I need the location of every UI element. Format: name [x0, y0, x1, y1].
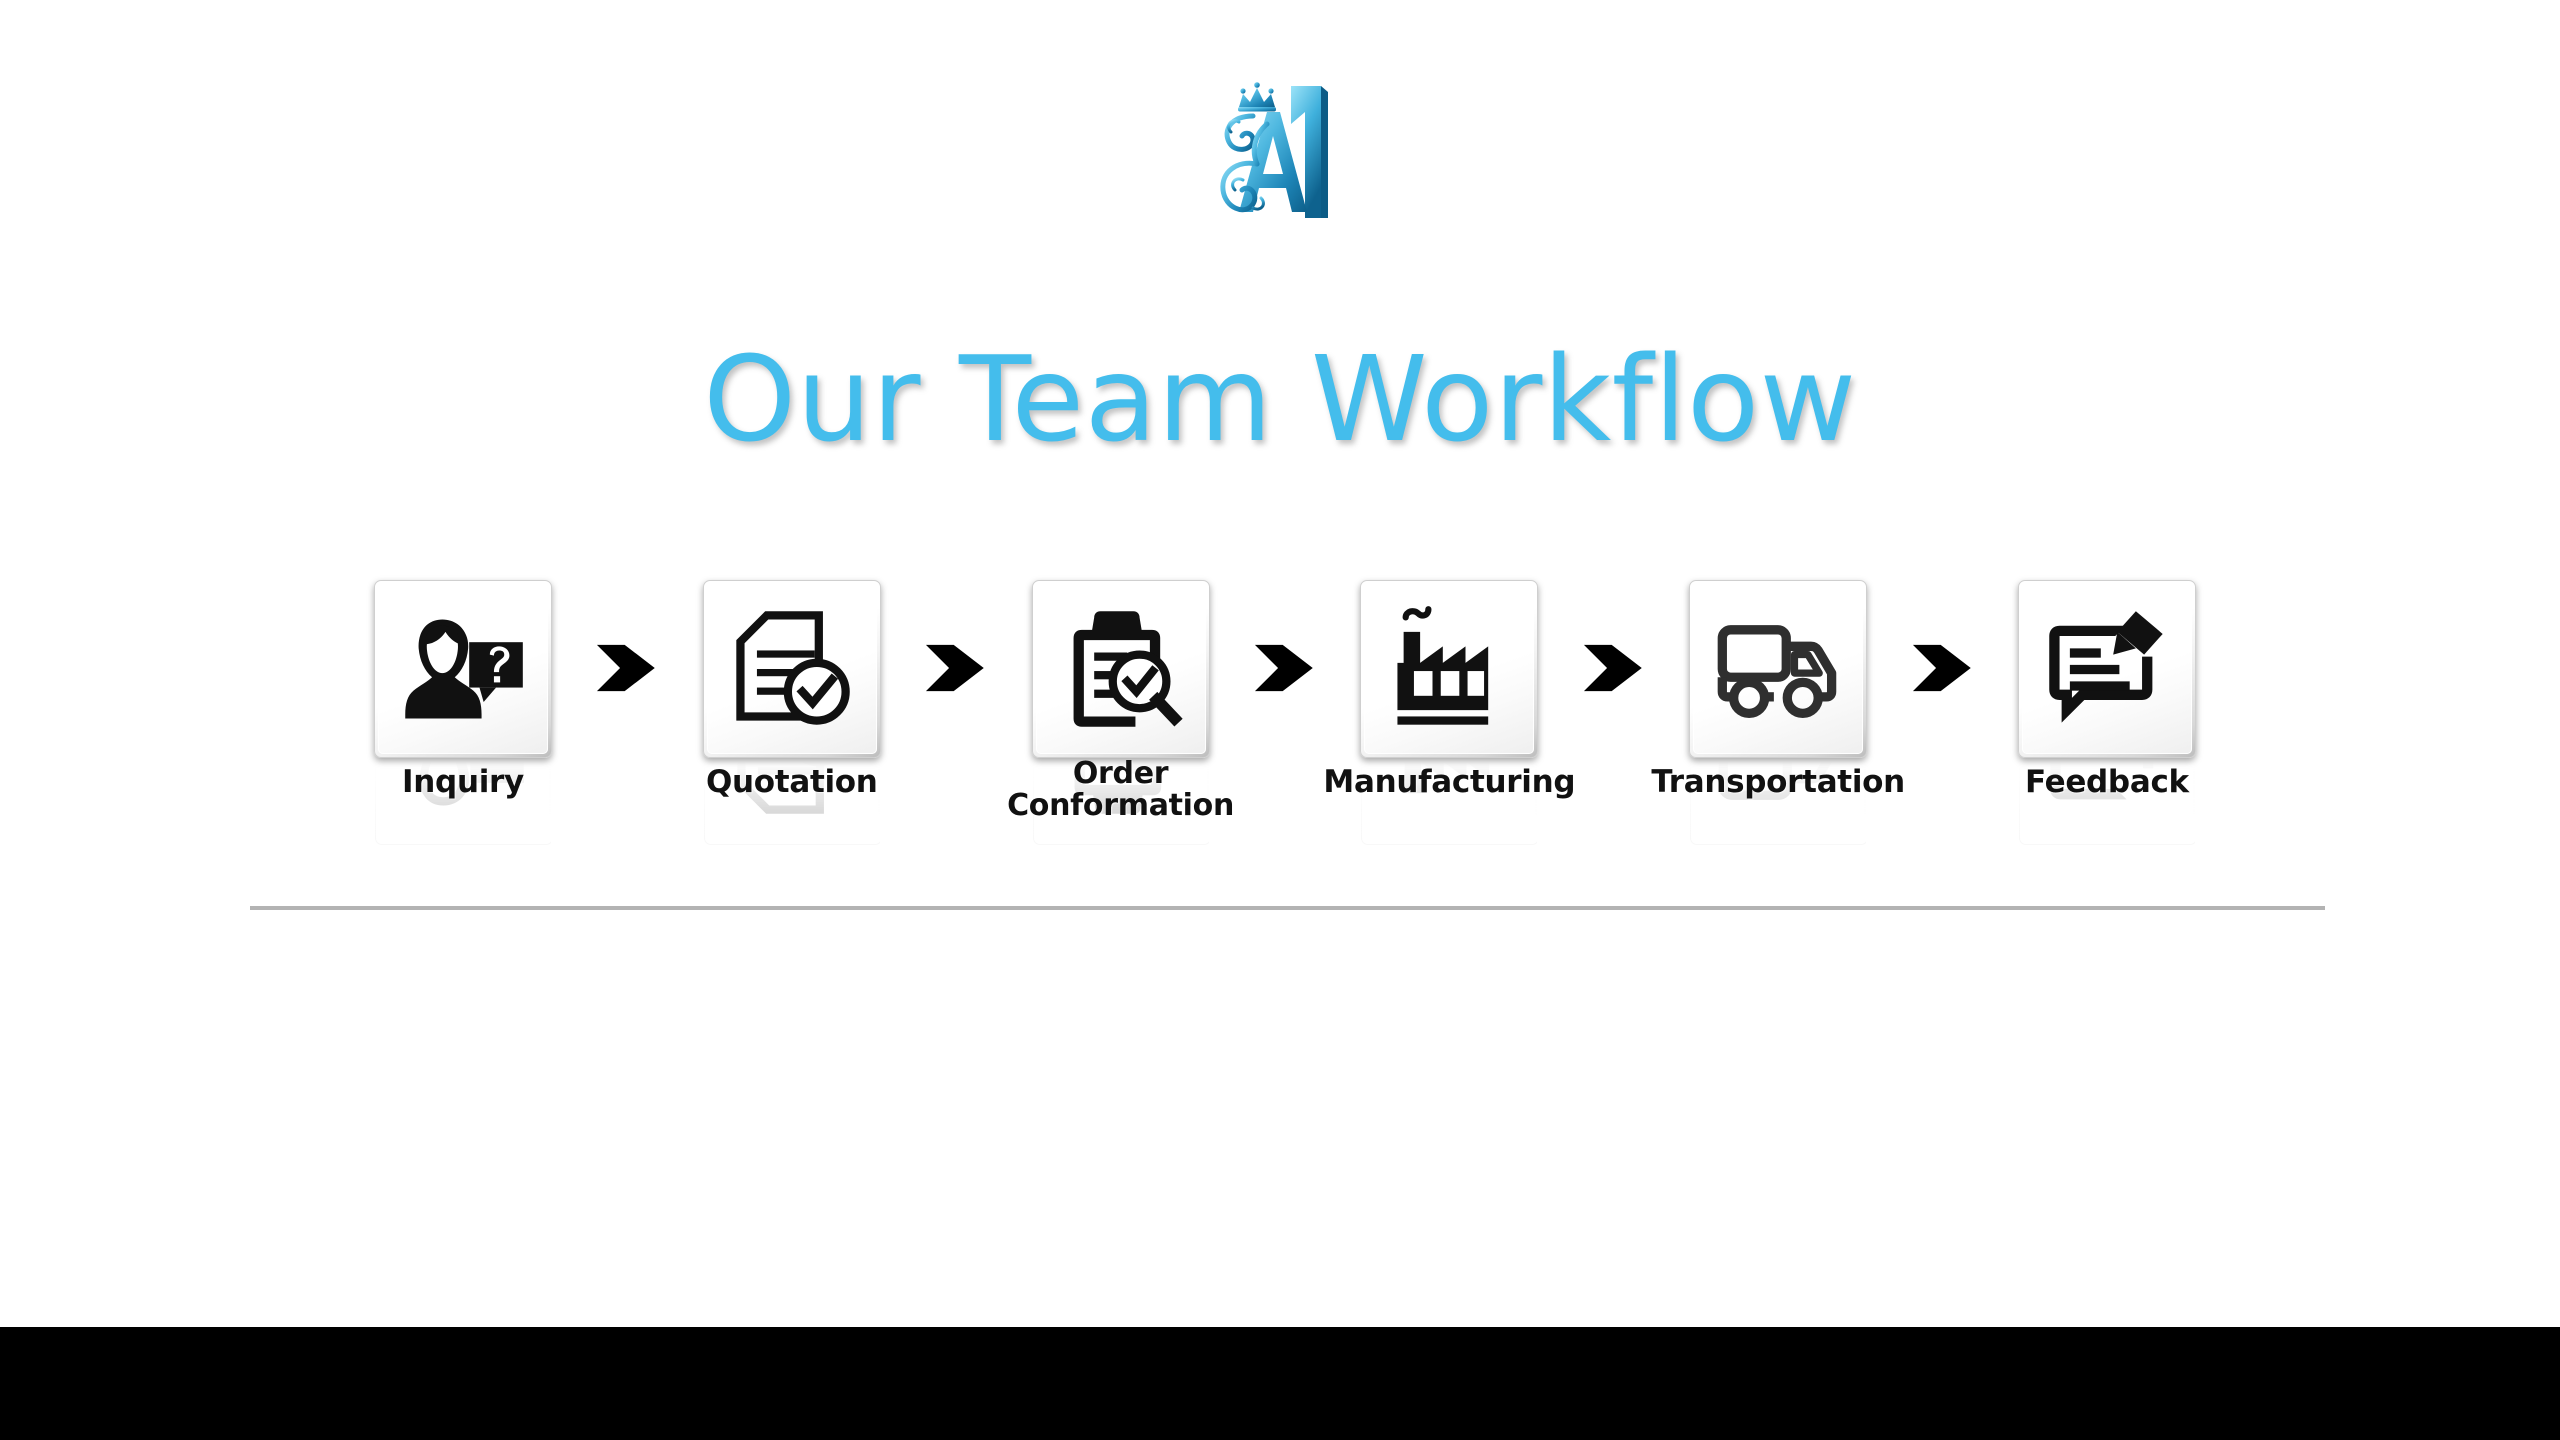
page-title: Our Team Workflow	[0, 340, 2560, 458]
workflow-step-label-quotation: Quotation	[629, 766, 955, 799]
workflow-arrow-2	[913, 580, 999, 756]
chevron-arrow-right-icon	[590, 631, 664, 705]
workflow-step-transportation[interactable]: Transportation	[1685, 580, 1871, 845]
workflow-step-label-feedback: Feedback	[1944, 766, 2270, 799]
slide-canvas: Our Team Workflow	[0, 0, 2560, 1327]
document-check-quotation-icon	[726, 603, 858, 735]
workflow-step-label-transportation: Transportation	[1615, 766, 1941, 799]
workflow-step-quotation[interactable]: Quotation	[699, 580, 885, 845]
workflow-step-manufacturing[interactable]: Manufacturing	[1356, 580, 1542, 845]
chevron-arrow-right-icon	[1577, 631, 1651, 705]
a1-crown-monogram-logo	[1195, 72, 1365, 237]
speech-bubble-pencil-feedback-icon	[2041, 603, 2173, 735]
workflow-step-label-inquiry: Inquiry	[300, 766, 626, 799]
workflow-step-feedback[interactable]: Feedback	[2014, 580, 2200, 845]
chevron-arrow-right-icon	[1906, 631, 1980, 705]
workflow-step-label-order-conformation: Order Conformation	[958, 758, 1284, 823]
workflow-steps-row: Inquiry	[370, 580, 2200, 840]
person-question-inquiry-icon	[397, 603, 529, 735]
factory-manufacturing-icon	[1383, 603, 1515, 735]
chevron-arrow-right-icon	[1248, 631, 1322, 705]
order-conformation-tile[interactable]	[1032, 580, 1210, 758]
chevron-arrow-right-icon	[919, 631, 993, 705]
content-divider	[250, 906, 2325, 910]
workflow-arrow-1	[584, 580, 670, 756]
feedback-tile[interactable]	[2018, 580, 2196, 758]
workflow-arrow-5	[1900, 580, 1986, 756]
order-conformation-label-line1: Order	[958, 758, 1284, 790]
brand-logo-container	[0, 72, 2560, 237]
manufacturing-tile[interactable]	[1360, 580, 1538, 758]
bottom-bar	[0, 1327, 2560, 1440]
quotation-tile[interactable]	[703, 580, 881, 758]
transportation-tile[interactable]	[1689, 580, 1867, 758]
workflow-step-inquiry[interactable]: Inquiry	[370, 580, 556, 845]
clipboard-magnifier-check-icon	[1055, 603, 1187, 735]
delivery-truck-icon	[1712, 603, 1844, 735]
order-conformation-label-line2: Conformation	[958, 790, 1284, 822]
workflow-arrow-3	[1242, 580, 1328, 756]
workflow-step-order-conformation[interactable]: Order Conformation	[1028, 580, 1214, 845]
inquiry-tile[interactable]	[374, 580, 552, 758]
workflow-step-label-manufacturing: Manufacturing	[1286, 766, 1612, 799]
workflow-arrow-4	[1571, 580, 1657, 756]
